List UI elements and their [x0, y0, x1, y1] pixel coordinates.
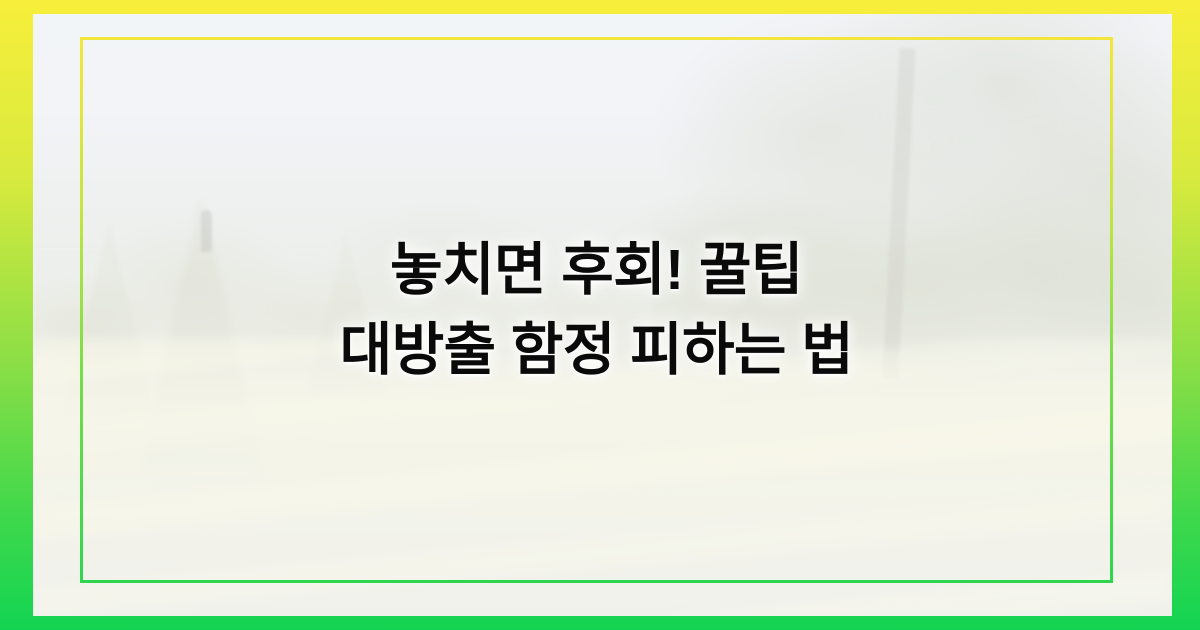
- photo-wash-overlay: [33, 14, 1172, 616]
- background-photo: [33, 14, 1172, 616]
- thumbnail-card: 놓치면 후회! 꿀팁 대방출 함정 피하는 법: [0, 0, 1200, 630]
